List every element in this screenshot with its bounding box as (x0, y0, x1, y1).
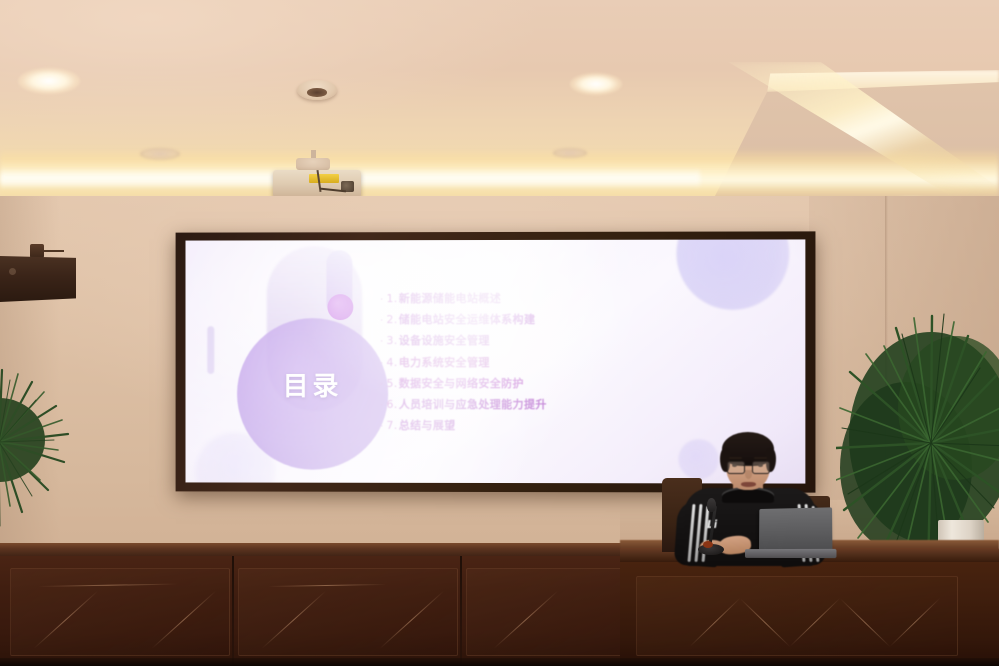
speaker-wire (44, 250, 64, 252)
microphone-indicator (703, 541, 713, 548)
paneling-panel (10, 568, 230, 656)
bullet-icon: · (380, 359, 383, 369)
paneling-panel (238, 568, 458, 656)
speaker-box (0, 256, 76, 302)
downlight-icon (140, 148, 180, 160)
screen-display-area: 目录 · 1. 新能源储能电站概述 · 2. 储能电站安全运维体系构建 · 3.… (185, 239, 805, 483)
mouth (741, 482, 756, 487)
laptop-base (745, 549, 837, 558)
nose (745, 470, 752, 479)
speaker-bracket (30, 244, 44, 258)
list-item-label: 电力系统安全管理 (399, 354, 490, 370)
downlight-icon (18, 68, 80, 94)
list-item-number: 5. (386, 377, 397, 390)
slide-decoration-bar (207, 326, 214, 374)
list-item: · 3. 设备设施安全管理 (380, 332, 660, 348)
list-item: · 6. 人员培训与应急处理能力提升 (380, 396, 660, 412)
list-item-number: 2. (386, 313, 397, 326)
downlight-icon (553, 148, 587, 158)
bullet-icon: · (380, 337, 383, 347)
downlight-icon (570, 73, 622, 95)
list-item-label: 新能源储能电站概述 (399, 290, 501, 306)
wall-paneling (0, 556, 640, 666)
slide-decoration-circle (678, 439, 718, 479)
list-item: · 4. 电力系统安全管理 (380, 354, 660, 370)
slide-title: 目录 (247, 366, 378, 403)
list-item-number: 3. (386, 334, 397, 347)
glasses-lens (727, 461, 745, 474)
bullet-icon: · (380, 401, 383, 411)
smoke-detector-icon (297, 80, 337, 100)
list-item-number: 7. (386, 419, 397, 432)
paneling-panel (466, 568, 634, 656)
list-item: · 2. 储能电站安全运维体系构建 (380, 311, 660, 327)
list-item-label: 总结与展望 (399, 417, 456, 433)
slide-toc-list: · 1. 新能源储能电站概述 · 2. 储能电站安全运维体系构建 · 3. 设备… (380, 290, 660, 439)
desk-panel (636, 576, 958, 656)
list-item: · 5. 数据安全与网络安全防护 (380, 375, 660, 391)
list-item-label: 数据安全与网络安全防护 (399, 375, 524, 391)
wall-paneling-rail (0, 543, 640, 557)
projector-arm (296, 158, 330, 170)
projector-badge (309, 174, 339, 183)
list-item: · 7. 总结与展望 (380, 417, 660, 433)
microphone-head (707, 498, 716, 512)
paneling-seam (232, 556, 234, 666)
desk-front-panel (620, 562, 999, 666)
list-item-label: 储能电站安全运维体系构建 (399, 311, 536, 327)
list-item-number: 1. (386, 292, 397, 305)
presentation-room-photo: 目录 · 1. 新能源储能电站概述 · 2. 储能电站安全运维体系构建 · 3.… (0, 0, 999, 666)
glasses-lens (752, 461, 770, 474)
floor-edge (0, 658, 999, 666)
list-item-label: 设备设施安全管理 (399, 332, 490, 348)
slide-decoration-dot (327, 294, 353, 320)
glasses-bridge (743, 465, 752, 466)
list-item: · 1. 新能源储能电站概述 (380, 290, 660, 306)
list-item-number: 6. (386, 398, 397, 411)
bullet-icon: · (380, 422, 383, 432)
laptop-screen (759, 507, 833, 554)
list-item-label: 人员培训与应急处理能力提升 (399, 396, 547, 412)
bullet-icon: · (380, 316, 383, 326)
bullet-icon: · (380, 380, 383, 390)
list-item-number: 4. (386, 356, 397, 369)
paneling-seam (460, 556, 462, 666)
bullet-icon: · (380, 295, 383, 305)
